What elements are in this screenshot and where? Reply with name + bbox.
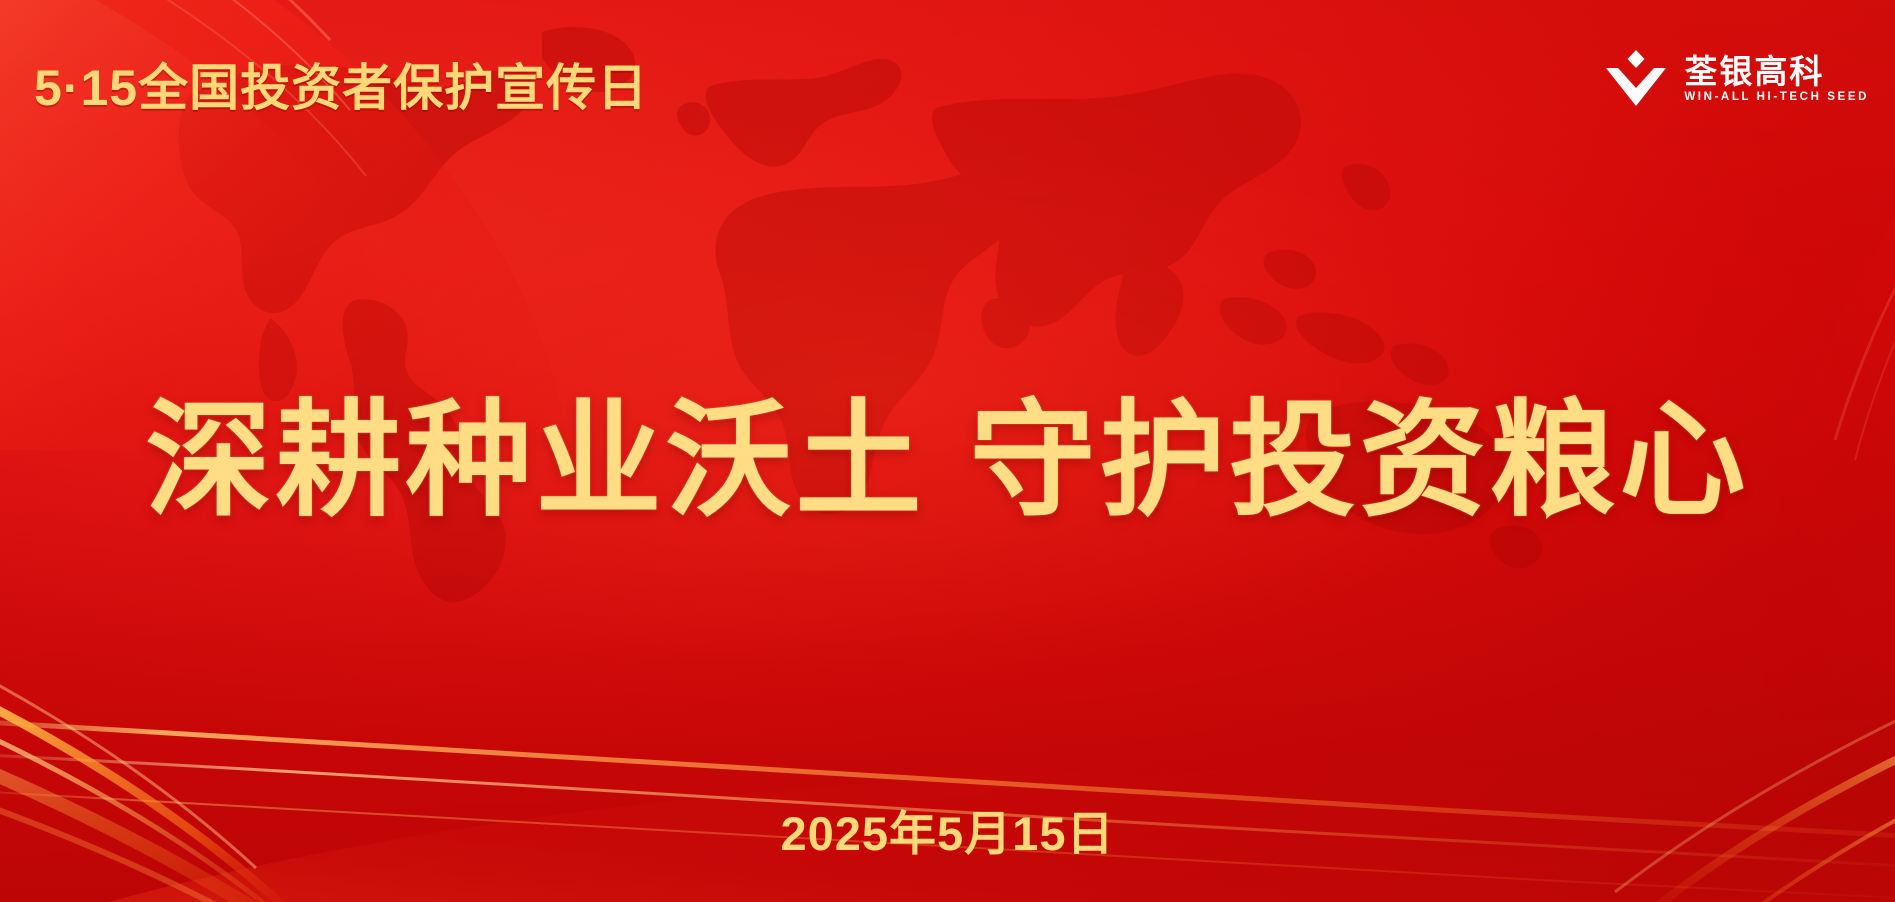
- headline-part-2: 守护投资粮心: [970, 390, 1750, 531]
- banner-poster: 5·15全国投资者保护宣传日 荃银高科 WIN-ALL HI-TECH SEED…: [0, 0, 1895, 902]
- chevron-diamond-logo-icon: [1604, 48, 1668, 110]
- headline-part-1: 深耕种业沃土: [146, 390, 926, 531]
- brand-name-en: WIN-ALL HI-TECH SEED: [1684, 92, 1869, 104]
- campaign-kicker: 5·15全国投资者保护宣传日: [34, 48, 648, 120]
- brand-name-cn: 荃银高科: [1684, 55, 1824, 88]
- page-title: 深耕种业沃土守护投资粮心: [0, 392, 1895, 531]
- brand-text: 荃银高科 WIN-ALL HI-TECH SEED: [1684, 55, 1869, 104]
- brand-logo[interactable]: 荃银高科 WIN-ALL HI-TECH SEED: [1604, 48, 1869, 110]
- event-date: 2025年5月15日: [0, 795, 1895, 864]
